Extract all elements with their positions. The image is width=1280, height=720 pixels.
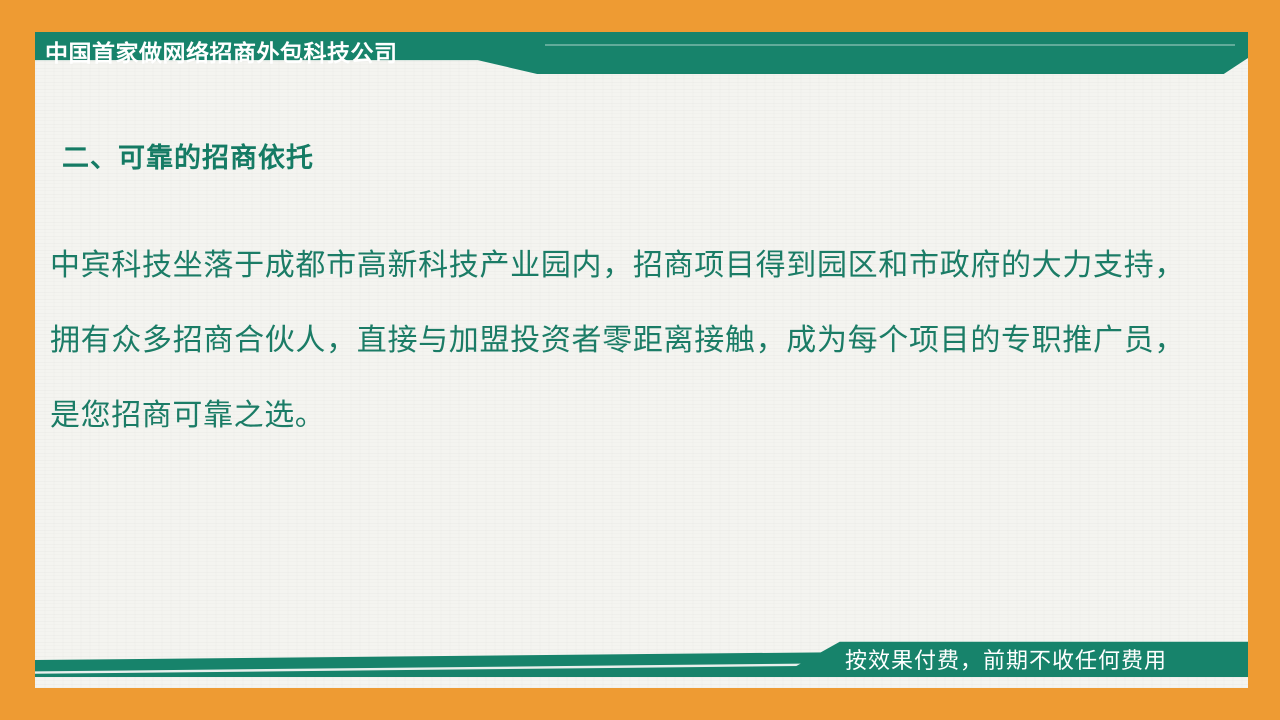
- body-paragraph: 中宾科技坐落于成都市高新科技产业园内，招商项目得到园区和市政府的大力支持，拥有众…: [50, 228, 1185, 453]
- header-divider-line: [545, 44, 1235, 46]
- presentation-slide: 中国首家做网络招商外包科技公司 二、可靠的招商依托 中宾科技坐落于成都市高新科技…: [0, 0, 1280, 720]
- footer-tagline: 按效果付费，前期不收任何费用: [845, 647, 1167, 675]
- section-heading: 二、可靠的招商依托: [62, 136, 314, 175]
- header-title: 中国首家做网络招商外包科技公司: [45, 36, 398, 70]
